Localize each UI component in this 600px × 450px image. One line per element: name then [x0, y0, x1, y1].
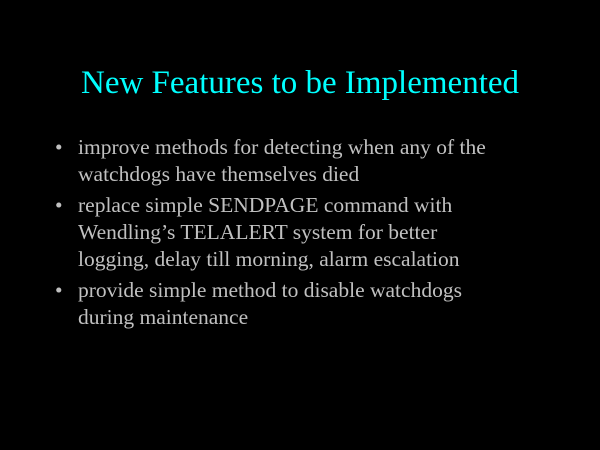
bullet-item: • replace simple SENDPAGE command with W…	[50, 192, 550, 273]
bullet-dot-icon: •	[55, 192, 69, 219]
bullet-list: • improve methods for detecting when any…	[50, 134, 550, 335]
bullet-item-text: replace simple SENDPAGE command with Wen…	[78, 192, 498, 273]
bullet-item: • improve methods for detecting when any…	[50, 134, 550, 188]
bullet-dot-icon: •	[55, 134, 69, 161]
bullet-item: • provide simple method to disable watch…	[50, 277, 550, 331]
bullet-item-text: provide simple method to disable watchdo…	[78, 277, 510, 331]
presentation-slide: New Features to be Implemented • improve…	[0, 0, 600, 450]
slide-title: New Features to be Implemented	[0, 64, 600, 102]
bullet-item-text: improve methods for detecting when any o…	[78, 134, 530, 188]
bullet-dot-icon: •	[55, 277, 69, 304]
